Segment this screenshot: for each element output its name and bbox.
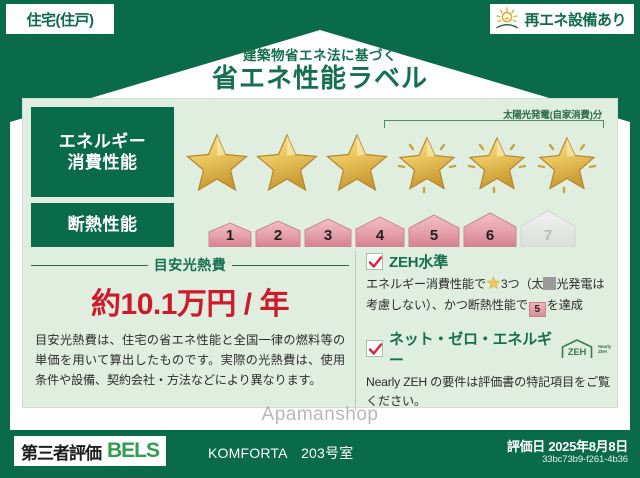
insulation-level-number: 7	[519, 227, 577, 244]
redaction-block	[543, 277, 556, 290]
renewable-equipment-tag: 再エネ設備あり	[490, 4, 634, 34]
insulation-performance-row-label: 断熱性能	[31, 203, 174, 247]
building-type-label: 住宅(住戸)	[27, 9, 94, 30]
rule-left	[31, 265, 148, 266]
content-panel: エネルギー 消費性能 太陽光発電(自家消費)分	[22, 98, 618, 408]
utility-cost-note: 目安光熱費は、住宅の省エネ性能と全国一律の燃料等の単価を用いて算出したものです。…	[31, 330, 349, 390]
checkmark-icon	[366, 340, 383, 357]
zeh-block: ZEH水準 エネルギー消費性能で3つ（太光発電は考慮しない）、かつ断熱性能で5を…	[355, 251, 611, 411]
checkmark-icon	[366, 253, 383, 270]
net-zero-title: ネット・ゼロ・エネルギー	[389, 328, 554, 370]
zeh-text-part2: 3つ（太	[501, 277, 544, 291]
property-name: KOMFORTA 203号室	[208, 443, 353, 463]
net-zero-title-row: ネット・ゼロ・エネルギー ZEH Nearly ZEH	[366, 328, 611, 370]
insulation-level-number: 6	[462, 227, 518, 244]
energy-star-rating: 太陽光発電(自家消費)分	[183, 107, 608, 197]
zeh-nearly-line2: ZEH	[598, 349, 607, 354]
star-filled	[253, 129, 321, 195]
insulation-level-number: 3	[303, 227, 353, 244]
bels-en-text: BELS	[107, 439, 159, 463]
insulation-level-7: 7	[519, 209, 577, 247]
label-title: 省エネ性能ラベル	[0, 58, 640, 95]
zeh-standard-title: ZEH水準	[389, 251, 448, 272]
star-row	[183, 129, 601, 195]
zeh-standard-item: ZEH水準 エネルギー消費性能で3つ（太光発電は考慮しない）、かつ断熱性能で5を…	[366, 251, 611, 317]
insulation-level-scale: 1 2 3 4	[183, 203, 608, 247]
insulation-level-3: 3	[303, 217, 353, 247]
bels-logo: 第三者評価 BELS	[14, 436, 166, 466]
net-zero-text: Nearly ZEH の要件は評価書の特記項目をご覧ください。	[366, 373, 611, 411]
star-filled	[323, 129, 391, 195]
solar-caption: 太陽光発電(自家消費)分	[503, 107, 602, 121]
energy-performance-row-label: エネルギー 消費性能	[31, 107, 174, 197]
zeh-text-part4: を達成	[547, 298, 583, 312]
utility-cost-heading-text: 目安光熱費	[154, 255, 227, 275]
building-type-tag: 住宅(住戸)	[6, 4, 114, 34]
rule-right	[232, 265, 349, 266]
zeh-house-logo-icon: ZEH	[560, 338, 594, 360]
insulation-label-text: 断熱性能	[68, 214, 138, 235]
zeh-nearly-line1: Nearly	[598, 344, 611, 349]
insulation-level-4: 4	[354, 215, 406, 247]
star-filled-solar	[533, 129, 601, 195]
insulation-level-number: 5	[407, 227, 461, 244]
zeh-text-part1: エネルギー消費性能で	[366, 277, 486, 291]
star-filled-solar	[463, 129, 531, 195]
bels-jp-text: 第三者評価	[21, 439, 101, 464]
net-zero-energy-item: ネット・ゼロ・エネルギー ZEH Nearly ZEH Nearly ZEH の…	[366, 328, 611, 411]
utility-cost-block: 目安光熱費 約10.1万円 / 年 目安光熱費は、住宅の省エネ性能と全国一律の燃…	[31, 255, 349, 390]
insulation-level-number: 4	[354, 227, 406, 244]
star-filled	[183, 129, 251, 195]
zeh-nearly-sublabel: Nearly ZEH	[598, 344, 611, 355]
energy-label-line2: 消費性能	[68, 152, 138, 173]
inline-star-icon	[486, 275, 501, 296]
solar-bracket	[384, 120, 604, 128]
utility-cost-heading: 目安光熱費	[31, 255, 349, 275]
energy-label-line1: エネルギー	[59, 131, 147, 152]
footer-bar: 第三者評価 BELS KOMFORTA 203号室 評価日 2025年8月8日 …	[0, 430, 640, 478]
insulation-level-number: 1	[207, 227, 253, 244]
zeh-standard-text: エネルギー消費性能で3つ（太光発電は考慮しない）、かつ断熱性能で5を達成	[366, 275, 611, 317]
insulation-level-5: 5	[407, 213, 461, 247]
energy-label-root: 住宅(住戸) 再エネ設備あり 建築物省エネ法に基づく 省エネ性能	[0, 0, 640, 478]
renewable-tag-label: 再エネ設備あり	[524, 9, 626, 30]
sun-icon	[494, 7, 520, 31]
insulation-level-1: 1	[207, 221, 253, 247]
evaluation-id: 33bc73b9-f261-4b36	[542, 454, 628, 465]
svg-text:ZEH: ZEH	[568, 347, 587, 358]
star-filled-solar	[393, 129, 461, 195]
inline-insulation-badge: 5	[529, 302, 546, 317]
insulation-level-number: 2	[254, 227, 302, 244]
zeh-standard-title-row: ZEH水準	[366, 251, 611, 272]
utility-cost-value: 約10.1万円 / 年	[31, 279, 349, 323]
evaluation-date: 評価日 2025年8月8日	[507, 436, 628, 455]
insulation-level-6: 6	[462, 211, 518, 247]
insulation-level-2: 2	[254, 219, 302, 247]
